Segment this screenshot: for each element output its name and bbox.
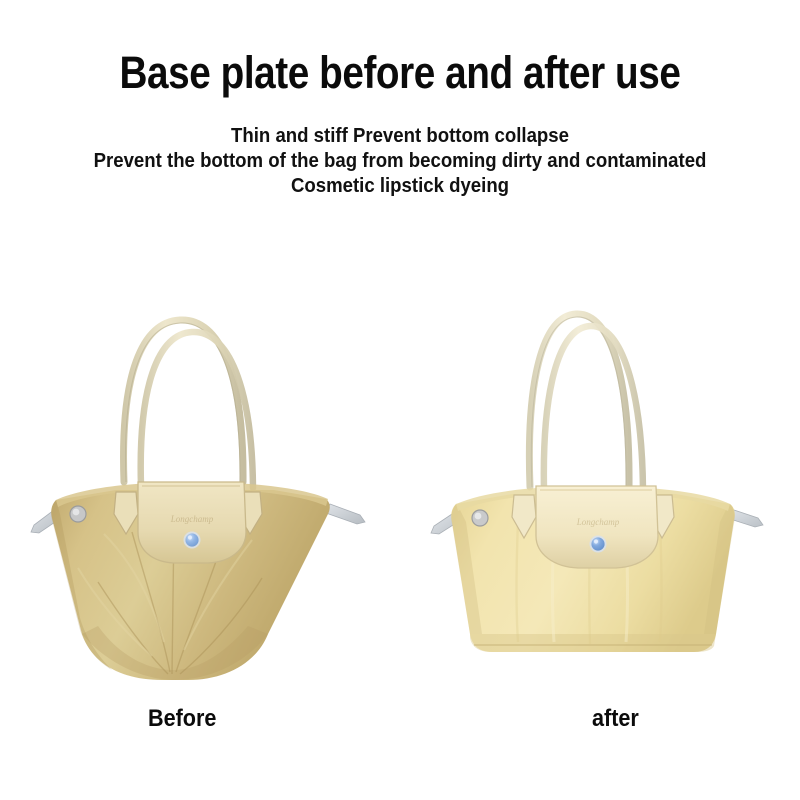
before-bag-photo: Longchamp [12, 282, 392, 682]
after-bag-side-hardware-highlight [475, 513, 482, 520]
feature-line-3: Cosmetic lipstick dyeing [28, 174, 772, 199]
before-bag-logo: Longchamp [170, 514, 214, 524]
after-bag-flap [536, 486, 658, 568]
before-bag-snap-button [185, 533, 198, 546]
product-comparison-page: Base plate before and after use Thin and… [0, 0, 800, 800]
after-bag-snap-highlight [594, 539, 598, 543]
before-bag-side-hardware-highlight [73, 509, 80, 516]
before-bag-snap-highlight [188, 535, 192, 539]
after-bag-flat-bottom [470, 634, 716, 652]
after-caption: after [592, 705, 639, 733]
after-bag-photo: Longchamp [408, 282, 788, 682]
after-bag-logo: Longchamp [576, 517, 620, 527]
before-bag-right-strap-tab [326, 504, 365, 524]
before-bag-illustration: Longchamp [12, 282, 392, 682]
after-bag-snap-button [591, 537, 604, 550]
page-title: Base plate before and after use [56, 48, 744, 98]
after-bag-illustration: Longchamp [408, 282, 788, 682]
before-caption: Before [148, 705, 216, 733]
feature-list: Thin and stiff Prevent bottom collapse P… [28, 124, 772, 199]
feature-line-2: Prevent the bottom of the bag from becom… [28, 149, 772, 174]
feature-line-1: Thin and stiff Prevent bottom collapse [28, 124, 772, 149]
